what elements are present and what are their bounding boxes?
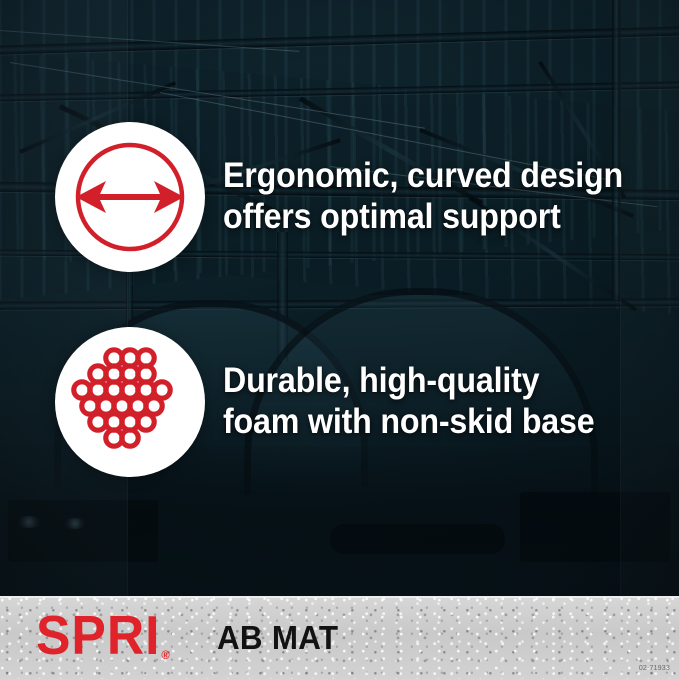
product-name: AB MAT (217, 621, 338, 654)
feature-headline: Durable, high-quality foam with non-skid… (223, 361, 594, 442)
spri-logo: SPRI® (36, 608, 169, 663)
feature-icon-badge (55, 122, 205, 272)
feature-headline-line2: offers optimal support (223, 197, 623, 238)
sku-code: 02-71933 (639, 665, 670, 672)
feature-headline-line1: Ergonomic, curved design (223, 156, 623, 197)
feature-row-foam: Durable, high-quality foam with non-skid… (55, 327, 627, 477)
feature-icon-badge (55, 327, 205, 477)
warehouse-background-photo (0, 0, 679, 596)
feature-headline-line1: Durable, high-quality (223, 361, 594, 402)
photo-vignette (0, 0, 679, 596)
spri-logo-text: SPRI (36, 604, 160, 666)
feature-headline-line2: foam with non-skid base (223, 402, 594, 443)
footer-bar: SPRI® AB MAT 02-71933 (0, 596, 679, 679)
feature-headline: Ergonomic, curved design offers optimal … (223, 156, 623, 237)
footer-top-edge (0, 596, 679, 598)
feature-row-ergonomic: Ergonomic, curved design offers optimal … (55, 122, 658, 272)
product-feature-poster: Ergonomic, curved design offers optimal … (0, 0, 679, 679)
foam-cells-icon (70, 342, 190, 462)
registered-trademark-mark: ® (161, 648, 169, 662)
double-arrow-horizontal-icon (66, 133, 194, 261)
